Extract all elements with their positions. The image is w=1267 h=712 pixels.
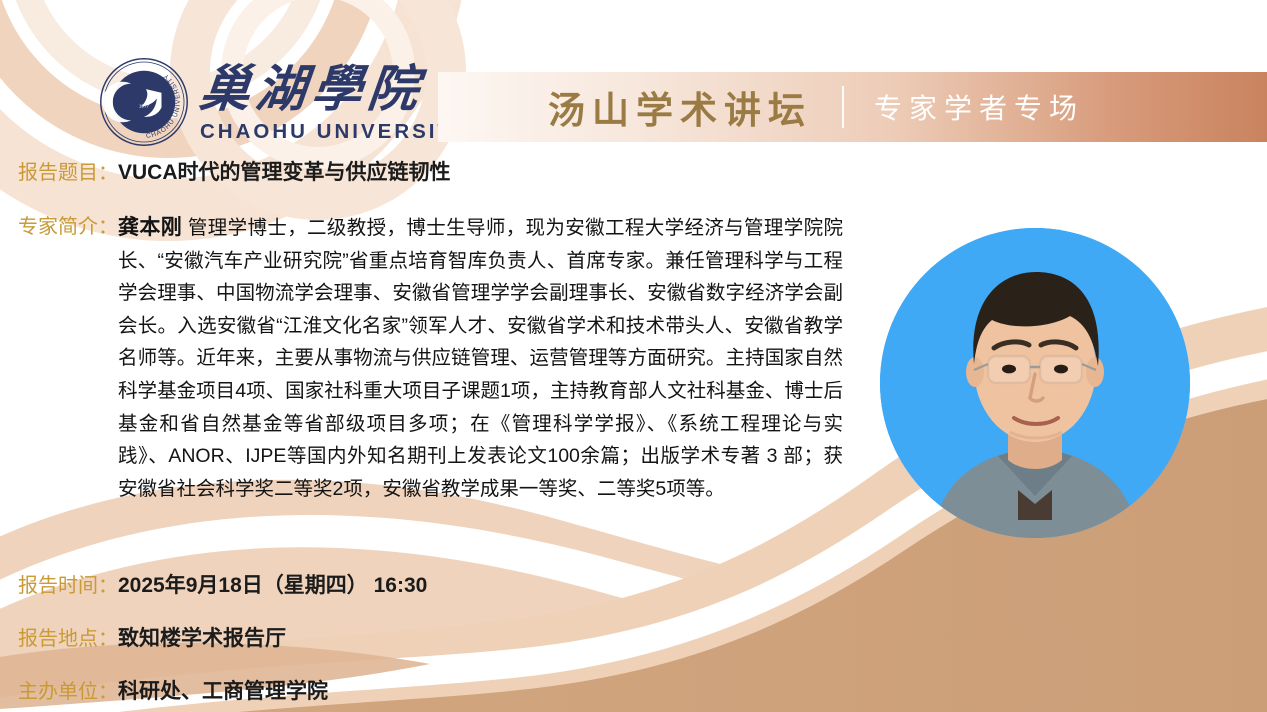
poster-canvas: 1977 CHAOHU UNIVERSITY 巢湖學院 CHAOHU UNIVE…: [0, 0, 1267, 712]
speaker-bio-body: 龚本刚 管理学博士，二级教授，博士生导师，现为安徽工程大学经济与管理学院院长、“…: [118, 212, 843, 505]
lecture-title-row: 报告题目： VUCA时代的管理变革与供应链韧性: [18, 158, 451, 188]
banner-title: 汤山学术讲坛: [548, 80, 812, 134]
banner-subtitle: 专家学者专场: [874, 87, 1084, 127]
lecture-host-value: 科研处、工商管理学院: [118, 677, 328, 707]
university-seal-icon: 1977 CHAOHU UNIVERSITY: [98, 56, 190, 148]
speaker-bio-label: 专家简介：: [18, 212, 118, 242]
speaker-bio-row: 专家简介： 龚本刚 管理学博士，二级教授，博士生导师，现为安徽工程大学经济与管理…: [18, 212, 878, 505]
speaker-portrait: [880, 228, 1190, 538]
lecture-time-value: 2025年9月18日（星期四） 16:30: [118, 571, 427, 601]
speaker-portrait-illustration: [880, 228, 1190, 538]
banner-divider: [842, 86, 844, 128]
lecture-host-label: 主办单位：: [18, 677, 118, 707]
lecture-time-row: 报告时间： 2025年9月18日（星期四） 16:30: [18, 571, 427, 601]
poster-header: 1977 CHAOHU UNIVERSITY 巢湖學院 CHAOHU UNIVE…: [0, 0, 1267, 150]
lecture-place-value: 致知楼学术报告厅: [118, 624, 286, 654]
university-name-cn: 巢湖學院: [197, 64, 426, 114]
speaker-bio-text: 管理学博士，二级教授，博士生导师，现为安徽工程大学经济与管理学院院长、“安徽汽车…: [118, 217, 843, 500]
seal-year: 1977: [139, 104, 150, 109]
lecture-title-value: VUCA时代的管理变革与供应链韧性: [118, 158, 451, 188]
lecture-place-row: 报告地点： 致知楼学术报告厅: [18, 624, 286, 654]
lecture-place-label: 报告地点：: [18, 624, 118, 654]
speaker-name: 龚本刚: [118, 216, 182, 239]
lecture-series-banner: 汤山学术讲坛 专家学者专场: [438, 72, 1267, 142]
university-logo: 1977 CHAOHU UNIVERSITY 巢湖學院 CHAOHU UNIVE…: [98, 56, 470, 148]
lecture-title-label: 报告题目：: [18, 158, 118, 188]
lecture-time-label: 报告时间：: [18, 571, 118, 601]
lecture-host-row: 主办单位： 科研处、工商管理学院: [18, 677, 328, 707]
university-name-en: CHAOHU UNIVERSITY: [200, 120, 470, 144]
